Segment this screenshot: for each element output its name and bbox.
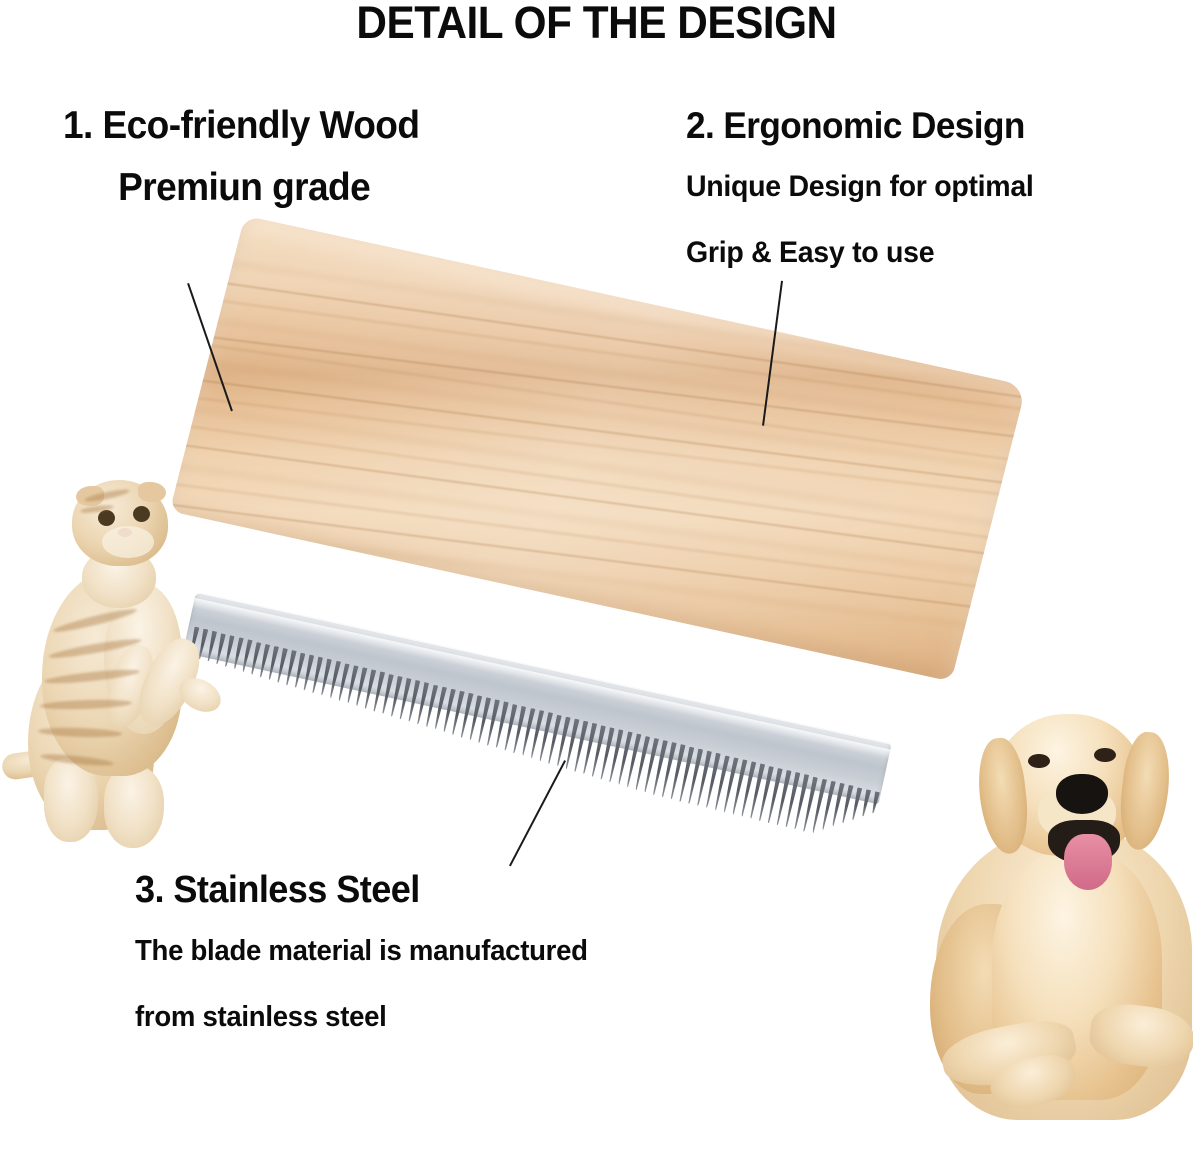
blade-tooth xyxy=(311,656,324,693)
blade-tooth xyxy=(820,781,835,831)
blade-tooth xyxy=(830,783,844,827)
dog-photo xyxy=(930,690,1193,1154)
callout-2-body-line-1: Unique Design for optimal xyxy=(686,154,1034,220)
callout-1-heading-line-1: 1. Eco-friendly Wood xyxy=(63,95,419,157)
cat-muzzle xyxy=(102,526,154,558)
blade-tooth xyxy=(328,661,341,699)
callout-2-heading-line-1: 2. Ergonomic Design xyxy=(686,98,1034,154)
page-title: DETAIL OF THE DESIGN xyxy=(36,0,1157,46)
blade-tooth xyxy=(722,757,739,813)
blade-tooth xyxy=(398,678,412,720)
cat-ear-right xyxy=(138,482,166,502)
blade-tooth xyxy=(840,785,853,824)
blade-tooth xyxy=(731,759,748,815)
blade-tooth xyxy=(415,682,429,725)
blade-tooth xyxy=(590,725,606,777)
blade-teeth xyxy=(164,592,892,890)
blade-tooth xyxy=(293,652,306,688)
blade-tooth xyxy=(459,693,474,738)
blade-tooth xyxy=(669,744,686,800)
blade-tooth xyxy=(555,716,571,766)
dog-eye-left xyxy=(1028,754,1050,768)
blade-tooth xyxy=(573,721,589,772)
blade-tooth xyxy=(739,761,756,817)
blade-tooth xyxy=(337,663,350,701)
blade-tooth xyxy=(267,646,279,681)
leader-line-3 xyxy=(510,760,566,866)
callout-3-heading-line-1: 3. Stainless Steel xyxy=(135,862,588,918)
blade-tooth xyxy=(345,665,358,704)
blade-tooth xyxy=(363,669,376,709)
cat-photo xyxy=(0,466,236,854)
blade-tooth xyxy=(581,723,597,775)
blade-tooth xyxy=(678,746,695,802)
blade-plate xyxy=(183,592,892,804)
blade-tooth xyxy=(546,714,562,764)
steel-blade xyxy=(164,592,892,890)
blade-tooth xyxy=(870,791,880,814)
blade-tooth xyxy=(599,727,615,780)
cat-eye-left xyxy=(98,510,115,526)
blade-tooth xyxy=(784,772,801,828)
blade-tooth xyxy=(258,644,270,678)
callout-1: 1. Eco-friendly Wood Premiun grade xyxy=(63,95,438,219)
blade-tooth xyxy=(538,712,553,762)
blade-tooth xyxy=(695,751,712,807)
blade-tooth xyxy=(625,733,641,787)
blade-tooth xyxy=(249,642,261,676)
blade-tooth xyxy=(372,671,385,711)
blade-tooth xyxy=(241,639,253,672)
blade-tooth xyxy=(775,770,792,826)
blade-tooth xyxy=(607,729,623,782)
callout-1-heading-line-2: Premiun grade xyxy=(63,157,419,219)
leader-line-2 xyxy=(762,281,783,426)
blade-tooth xyxy=(433,686,447,730)
blade-tooth xyxy=(642,738,659,793)
blade-tooth xyxy=(407,680,421,722)
callout-3-body-line-2: from stainless steel xyxy=(135,984,588,1050)
blade-tooth xyxy=(748,763,765,819)
blade-tooth xyxy=(686,748,703,804)
blade-tooth xyxy=(713,755,730,811)
blade-tooth xyxy=(766,768,783,824)
dog-eye-right xyxy=(1094,748,1116,762)
callout-3-body-line-1: The blade material is manufactured xyxy=(135,918,588,984)
blade-tooth xyxy=(529,710,544,759)
blade-tooth xyxy=(511,706,526,754)
blade-tooth xyxy=(520,708,535,757)
blade-tooth xyxy=(860,789,871,817)
blade-tooth xyxy=(319,659,332,697)
blade-tooth xyxy=(704,753,721,809)
blade-tooth xyxy=(354,667,367,706)
blade-tooth xyxy=(441,689,455,733)
blade-tooth xyxy=(616,731,632,785)
callout-2-body-line-2: Grip & Easy to use xyxy=(686,220,1034,286)
blade-tooth xyxy=(651,740,668,796)
blade-tooth xyxy=(494,701,509,748)
blade-tooth xyxy=(468,695,483,741)
callout-2: 2. Ergonomic Design Unique Design for op… xyxy=(686,98,1052,286)
dog-nose xyxy=(1056,774,1108,814)
blade-tooth xyxy=(476,697,491,743)
infographic-canvas: DETAIL OF THE DESIGN xyxy=(0,0,1193,1154)
blade-tooth xyxy=(503,704,518,752)
blade-tooth xyxy=(793,774,810,830)
blade-tooth xyxy=(564,718,580,769)
blade-tooth xyxy=(850,787,862,820)
callout-3: 3. Stainless Steel The blade material is… xyxy=(135,862,612,1050)
blade-tooth xyxy=(485,699,500,746)
blade-tooth xyxy=(389,676,403,717)
blade-tooth xyxy=(634,736,651,791)
cat-hind-leg-right xyxy=(104,766,164,848)
cat-eye-right xyxy=(133,506,150,522)
blade-tooth xyxy=(757,766,774,822)
blade-tooth xyxy=(450,691,464,736)
blade-tooth xyxy=(302,654,315,691)
blade-tooth xyxy=(380,674,394,715)
blade-tooth xyxy=(424,684,438,727)
blade-tooth xyxy=(801,776,818,832)
dog-tongue xyxy=(1064,834,1112,890)
blade-tooth xyxy=(810,778,827,833)
blade-tooth xyxy=(660,742,677,798)
blade-tooth xyxy=(284,650,296,686)
blade-tooth xyxy=(276,648,288,683)
leader-line-1 xyxy=(187,283,233,412)
